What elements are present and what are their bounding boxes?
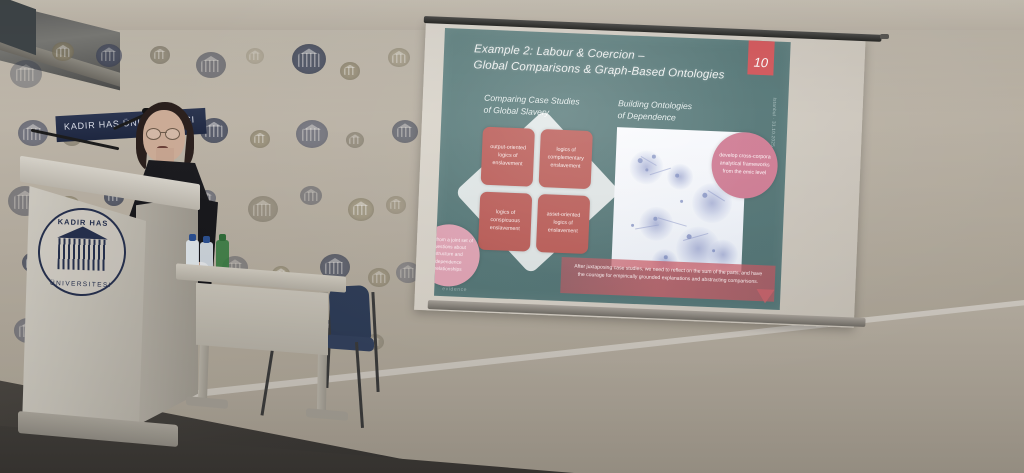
screen-rod-knob — [880, 34, 889, 39]
podium-seal-building-icon — [58, 238, 106, 272]
podium-university-seal: KADIR HAS ÜNIVERSITESI — [36, 206, 127, 297]
slide-title: Example 2: Labour & Coercion – Global Co… — [473, 41, 774, 86]
glasses-lens-right — [165, 128, 180, 140]
wall-seal-logo — [150, 46, 170, 64]
wall-seal-logo — [386, 196, 406, 214]
wall-seal-logo — [10, 60, 42, 88]
quadrant-box-bottom-right: asset-oriented logics of enslavement — [536, 194, 590, 254]
quadrant-box-top-right: logics of complementary enslavement — [539, 129, 593, 189]
lecture-hall-photo: KADIR HAS ÜNIVERSITESI KADIR HAS ÜNIVERS… — [0, 0, 1024, 473]
wall-seal-logo — [392, 120, 418, 143]
right-column-heading: Building Ontologies of Dependence — [617, 97, 748, 127]
graph-node — [712, 249, 715, 252]
slide-footer-watermark: evidence — [442, 286, 467, 293]
graph-node — [680, 200, 683, 203]
wall-seal-logo — [246, 48, 264, 64]
wall-seal-logo — [292, 44, 326, 74]
bottle-cap — [219, 234, 226, 241]
graph-node — [631, 224, 634, 227]
wall-seal-logo — [250, 130, 270, 148]
wall-seal-logo — [96, 44, 122, 67]
table-apron — [196, 283, 328, 355]
projected-slide: 10 Istanbul · 31.10.2025 Example 2: Labo… — [434, 28, 791, 310]
bottle-cap — [203, 236, 210, 243]
wall-seal-logo — [348, 198, 374, 221]
quadrant-box-bottom-left: logics of conspicuous enslavement — [478, 192, 532, 252]
glasses-lens-left — [146, 128, 161, 140]
speaker-glasses — [146, 128, 180, 138]
banner-arrow-icon — [756, 289, 775, 304]
slide-bottom-banner: After juxtaposing case studies, we need … — [560, 257, 775, 302]
quadrant-diagram: output-oriented logics of enslavement lo… — [474, 123, 601, 260]
wall-seal-logo — [340, 62, 360, 80]
quadrant-box-top-left: output-oriented logics of enslavement — [481, 127, 535, 187]
bottle-cap — [189, 234, 196, 241]
wall-seal-logo — [346, 132, 364, 148]
wall-seal-logo — [296, 120, 328, 148]
graph-node-cluster — [629, 150, 664, 185]
slide-side-metadata: Istanbul · 31.10.2025 — [770, 97, 777, 147]
